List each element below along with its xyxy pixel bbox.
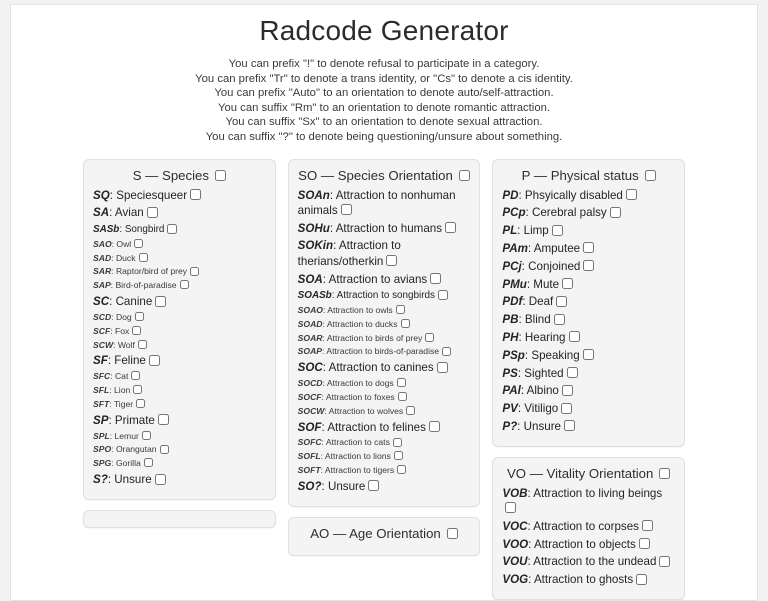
option-label: Unsure	[524, 420, 561, 433]
option-row: P?: Unsure	[502, 419, 675, 434]
option-checkbox-PDf[interactable]	[556, 296, 567, 307]
option-checkbox-PH[interactable]	[569, 331, 580, 342]
option-code: PCp	[502, 206, 525, 219]
option-row: SQ: Speciesqueer	[93, 188, 266, 203]
option-label: Attraction to ducks	[327, 319, 398, 329]
option-label: Attraction to objects	[534, 538, 636, 551]
option-checkbox-VOO[interactable]	[639, 538, 650, 549]
option-code: SOCW	[298, 406, 325, 416]
option-checkbox-SOA[interactable]	[430, 273, 441, 284]
option-row: SASb: Songbird	[93, 223, 266, 236]
option-checkbox-SPO[interactable]	[160, 445, 169, 454]
option-row: SOHu: Attraction to humans	[298, 221, 471, 236]
option-code: SOCD	[298, 378, 323, 388]
option-checkbox-VOU[interactable]	[659, 556, 670, 567]
option-label: Attraction to cats	[326, 437, 390, 447]
option-row: VOU: Attraction to the undead	[502, 554, 675, 569]
panel-title: VO — Vitality Orientation	[507, 466, 653, 481]
option-row: SOASb: Attraction to songbirds	[298, 289, 471, 302]
option-checkbox-SOAO[interactable]	[396, 305, 405, 314]
option-checkbox-SAD[interactable]	[139, 253, 148, 262]
option-code: PMu	[502, 278, 526, 291]
option-code: SFT	[93, 399, 109, 409]
option-code: VOB	[502, 487, 527, 500]
option-code: PDf	[502, 295, 522, 308]
option-checkbox-PD[interactable]	[626, 189, 637, 200]
option-code: PB	[502, 313, 518, 326]
option-label: Attraction to felines	[327, 421, 426, 434]
option-checkbox-SOFC[interactable]	[393, 438, 402, 447]
option-checkbox-SAP[interactable]	[180, 280, 189, 289]
option-row: VOB: Attraction to living beings	[502, 486, 675, 517]
instruction-line: You can prefix "Auto" to an orientation …	[11, 86, 757, 101]
option-row: SOAn: Attraction to nonhuman animals	[298, 188, 471, 219]
instruction-line: You can prefix "!" to denote refusal to …	[11, 57, 757, 72]
panel-vitality-orientation: VO — Vitality OrientationVOB: Attraction…	[492, 457, 685, 600]
option-label: Limp	[524, 224, 549, 237]
option-code: PSp	[502, 349, 525, 362]
panel-title: AO — Age Orientation	[310, 526, 440, 541]
option-list: PD: Phsyically disabledPCp: Cerebral pal…	[502, 188, 675, 435]
panel-header-species-orientation: SO — Species Orientation	[298, 167, 471, 188]
option-checkbox-SOCD[interactable]	[397, 378, 406, 387]
option-checkbox-VOB[interactable]	[505, 502, 516, 513]
panel-title: SO — Species Orientation	[298, 168, 453, 183]
option-code: SAO	[93, 239, 112, 249]
option-row: SAP: Bird-of-paradise	[93, 280, 266, 291]
option-label: Feline	[114, 354, 146, 367]
option-label: Attraction to birds of prey	[327, 333, 423, 343]
option-code: VOO	[502, 538, 528, 551]
option-code: PD	[502, 189, 518, 202]
option-checkbox-SO?[interactable]	[368, 480, 379, 491]
option-label: Bird-of-paradise	[115, 280, 176, 290]
option-checkbox-PL[interactable]	[552, 225, 563, 236]
option-label: Fox	[115, 326, 129, 336]
option-label: Raptor/bird of prey	[116, 266, 187, 276]
option-checkbox-SOCF[interactable]	[398, 392, 407, 401]
option-row: SOC: Attraction to canines	[298, 360, 471, 375]
option-checkbox-PV[interactable]	[561, 403, 572, 414]
panel-checkbox-age-orientation[interactable]	[447, 528, 458, 539]
category-column: S — SpeciesSQ: SpeciesqueerSA: AvianSASb…	[83, 159, 276, 528]
option-label: Attraction to avians	[329, 273, 428, 286]
option-label: Attraction to wolves	[329, 406, 404, 416]
option-label: Sighted	[524, 367, 563, 380]
option-checkbox-SOHu[interactable]	[445, 222, 456, 233]
option-label: Cat	[115, 371, 128, 381]
option-code: PV	[502, 402, 517, 415]
option-row: SP: Primate	[93, 413, 266, 428]
option-code: SA	[93, 206, 109, 219]
option-code: SFL	[93, 385, 109, 395]
option-checkbox-SOAP[interactable]	[442, 347, 451, 356]
option-code: SOAR	[298, 333, 323, 343]
panel-header-age-orientation: AO — Age Orientation	[298, 525, 471, 546]
option-list: SOAn: Attraction to nonhuman animalsSOHu…	[298, 188, 471, 495]
option-code: SOA	[298, 273, 323, 286]
option-row: PL: Limp	[502, 223, 675, 238]
option-row: SOCD: Attraction to dogs	[298, 378, 471, 389]
option-label: Gorilla	[116, 458, 141, 468]
option-row: SPG: Gorilla	[93, 458, 266, 469]
option-checkbox-SOF[interactable]	[429, 421, 440, 432]
panel-checkbox-vitality-orientation[interactable]	[659, 468, 670, 479]
option-row: SCW: Wolf	[93, 340, 266, 351]
instruction-line: You can prefix "Tr" to denote a trans id…	[11, 72, 757, 87]
option-checkbox-SASb[interactable]	[167, 224, 177, 234]
option-code: SCF	[93, 326, 110, 336]
option-label: Duck	[116, 253, 136, 263]
option-row: PSp: Speaking	[502, 348, 675, 363]
panel-checkbox-species-orientation[interactable]	[459, 170, 470, 181]
option-label: Attraction to lions	[325, 451, 391, 461]
option-label: Attraction to canines	[329, 361, 434, 374]
option-label: Albino	[527, 384, 559, 397]
option-label: Unsure	[328, 480, 365, 493]
option-row: SAR: Raptor/bird of prey	[93, 266, 266, 277]
option-checkbox-PAl[interactable]	[562, 385, 573, 396]
option-checkbox-SOFT[interactable]	[397, 465, 406, 474]
option-label: Attraction to corpses	[533, 520, 639, 533]
option-checkbox-PCj[interactable]	[583, 260, 594, 271]
option-code: PS	[502, 367, 517, 380]
option-row: SC: Canine	[93, 294, 266, 309]
option-row: PD: Phsyically disabled	[502, 188, 675, 203]
option-row: SOAO: Attraction to owls	[298, 305, 471, 316]
panel-species: S — SpeciesSQ: SpeciesqueerSA: AvianSASb…	[83, 159, 276, 500]
option-label: Tiger	[114, 399, 133, 409]
option-checkbox-SFC[interactable]	[131, 371, 140, 380]
option-label: Blind	[525, 313, 551, 326]
option-row: SFC: Cat	[93, 371, 266, 382]
option-checkbox-SOKin[interactable]	[386, 255, 397, 266]
option-checkbox-VOG[interactable]	[636, 574, 647, 585]
panel-species-partial	[83, 510, 276, 528]
option-label: Cerebral palsy	[532, 206, 607, 219]
option-code: SC	[93, 295, 109, 308]
option-code: P?	[502, 420, 517, 433]
option-checkbox-S?[interactable]	[155, 474, 166, 485]
category-column: P — Physical statusPD: Phsyically disabl…	[492, 159, 685, 600]
option-code: PCj	[502, 260, 521, 273]
option-row: PH: Hearing	[502, 330, 675, 345]
option-label: Attraction to owls	[327, 305, 392, 315]
option-code: SCW	[93, 340, 113, 350]
option-checkbox-SOASb[interactable]	[438, 290, 448, 300]
instruction-line: You can suffix "Sx" to an orientation to…	[11, 115, 757, 130]
option-row: PDf: Deaf	[502, 294, 675, 309]
option-checkbox-PB[interactable]	[554, 314, 565, 325]
option-row: SAO: Owl	[93, 239, 266, 250]
option-label: Avian	[115, 206, 144, 219]
option-code: PL	[502, 224, 517, 237]
option-code: SOCF	[298, 392, 322, 402]
panel-title: S — Species	[133, 168, 209, 183]
option-row: SOAR: Attraction to birds of prey	[298, 333, 471, 344]
option-checkbox-SOCW[interactable]	[406, 406, 415, 415]
option-label: Primate	[115, 414, 155, 427]
option-code: SOKin	[298, 239, 333, 252]
option-code: SOAD	[298, 319, 323, 329]
option-row: PMu: Mute	[502, 277, 675, 292]
option-label: Lemur	[115, 431, 139, 441]
option-code: SOFL	[298, 451, 321, 461]
option-checkbox-SAO[interactable]	[134, 239, 143, 248]
option-label: Mute	[533, 278, 559, 291]
option-checkbox-SPL[interactable]	[142, 431, 151, 440]
option-label: Canine	[116, 295, 153, 308]
option-code: SOAn	[298, 189, 330, 202]
option-checkbox-VOC[interactable]	[642, 520, 653, 531]
option-label: Attraction to living beings	[533, 487, 662, 500]
option-code: SOF	[298, 421, 322, 434]
option-label: Wolf	[118, 340, 135, 350]
panel-species-orientation: SO — Species OrientationSOAn: Attraction…	[288, 159, 481, 507]
option-label: Attraction to foxes	[326, 392, 395, 402]
option-checkbox-PSp[interactable]	[583, 349, 594, 360]
panel-header-species: S — Species	[93, 167, 266, 188]
option-row: PCp: Cerebral palsy	[502, 205, 675, 220]
option-checkbox-SFL[interactable]	[133, 385, 142, 394]
option-label: Songbird	[125, 224, 165, 235]
panel-title: P — Physical status	[522, 168, 639, 183]
option-checkbox-SFT[interactable]	[136, 399, 145, 408]
option-code: SOFT	[298, 465, 321, 475]
option-row: PS: Sighted	[502, 366, 675, 381]
option-code: SAR	[93, 266, 111, 276]
panel-physical-status: P — Physical statusPD: Phsyically disabl…	[492, 159, 685, 447]
option-code: PH	[502, 331, 518, 344]
option-code: SOC	[298, 361, 323, 374]
option-row: PAm: Amputee	[502, 241, 675, 256]
option-checkbox-SOAR[interactable]	[425, 333, 434, 342]
option-code: SPO	[93, 444, 111, 454]
option-row: SCF: Fox	[93, 326, 266, 337]
option-row: SF: Feline	[93, 353, 266, 368]
option-label: Attraction to dogs	[327, 378, 394, 388]
option-checkbox-PS[interactable]	[567, 367, 578, 378]
option-code: PAl	[502, 384, 520, 397]
option-checkbox-PCp[interactable]	[610, 207, 621, 218]
app-container: Radcode Generator You can prefix "!" to …	[10, 4, 758, 601]
option-checkbox-SOAD[interactable]	[401, 319, 410, 328]
option-code: SO?	[298, 480, 322, 493]
option-row: SFL: Lion	[93, 385, 266, 396]
option-row: PB: Blind	[502, 312, 675, 327]
option-code: SPG	[93, 458, 111, 468]
option-checkbox-SP[interactable]	[158, 414, 169, 425]
option-row: SOCF: Attraction to foxes	[298, 392, 471, 403]
option-code: SPL	[93, 431, 110, 441]
option-checkbox-SC[interactable]	[155, 296, 166, 307]
option-checkbox-SF[interactable]	[149, 355, 160, 366]
option-code: SQ	[93, 189, 110, 202]
option-code: SOAP	[298, 346, 322, 356]
option-label: Conjoined	[528, 260, 580, 273]
option-checkbox-SPG[interactable]	[144, 458, 153, 467]
option-row: SA: Avian	[93, 205, 266, 220]
option-row: SOFT: Attraction to tigers	[298, 465, 471, 476]
option-label: Attraction to songbirds	[337, 290, 435, 301]
option-code: SOAO	[298, 305, 323, 315]
option-label: Owl	[116, 239, 131, 249]
panel-header-physical-status: P — Physical status	[502, 167, 675, 188]
option-code: VOU	[502, 555, 527, 568]
option-row: PCj: Conjoined	[502, 259, 675, 274]
panel-header-vitality-orientation: VO — Vitality Orientation	[502, 465, 675, 486]
option-checkbox-SQ[interactable]	[190, 189, 201, 200]
option-row: SPO: Orangutan	[93, 444, 266, 455]
option-row: PAl: Albino	[502, 383, 675, 398]
option-checkbox-P?[interactable]	[564, 420, 575, 431]
option-code: SOFC	[298, 437, 322, 447]
option-checkbox-PMu[interactable]	[562, 278, 573, 289]
option-code: SFC	[93, 371, 110, 381]
option-row: SOAP: Attraction to birds-of-paradise	[298, 346, 471, 357]
option-row: SCD: Dog	[93, 312, 266, 323]
panel-checkbox-species[interactable]	[215, 170, 226, 181]
option-checkbox-SCD[interactable]	[135, 312, 144, 321]
option-label: Deaf	[529, 295, 554, 308]
option-code: SP	[93, 414, 108, 427]
option-row: SFT: Tiger	[93, 399, 266, 410]
option-label: Speaking	[531, 349, 579, 362]
instruction-line: You can suffix "?" to denote being quest…	[11, 130, 757, 145]
option-checkbox-SAR[interactable]	[190, 267, 199, 276]
option-code: PAm	[502, 242, 528, 255]
option-code: SCD	[93, 312, 111, 322]
option-code: VOG	[502, 573, 528, 586]
option-row: SOAD: Attraction to ducks	[298, 319, 471, 330]
panel-checkbox-physical-status[interactable]	[645, 170, 656, 181]
panel-age-orientation: AO — Age Orientation	[288, 517, 481, 556]
option-label: Phsyically disabled	[525, 189, 623, 202]
option-row: SOF: Attraction to felines	[298, 420, 471, 435]
category-columns: S — SpeciesSQ: SpeciesqueerSA: AvianSASb…	[11, 159, 757, 600]
option-row: VOO: Attraction to objects	[502, 537, 675, 552]
option-label: Orangutan	[116, 444, 157, 454]
option-row: SOFL: Attraction to lions	[298, 451, 471, 462]
option-checkbox-PAm[interactable]	[583, 242, 594, 253]
option-label: Attraction to humans	[336, 222, 442, 235]
option-label: Amputee	[534, 242, 580, 255]
option-row: VOG: Attraction to ghosts	[502, 572, 675, 587]
option-checkbox-SOFL[interactable]	[394, 451, 403, 460]
option-row: SOCW: Attraction to wolves	[298, 406, 471, 417]
page-title: Radcode Generator	[11, 15, 757, 47]
option-checkbox-SCF[interactable]	[132, 326, 141, 335]
option-row: PV: Vitiligo	[502, 401, 675, 416]
option-row: SAD: Duck	[93, 253, 266, 264]
category-column: SO — Species OrientationSOAn: Attraction…	[288, 159, 481, 556]
option-list: VOB: Attraction to living beingsVOC: Att…	[502, 486, 675, 588]
option-row: VOC: Attraction to corpses	[502, 519, 675, 534]
option-label: Speciesqueer	[116, 189, 187, 202]
option-list: SQ: SpeciesqueerSA: AvianSASb: SongbirdS…	[93, 188, 266, 488]
option-label: Attraction to tigers	[325, 465, 394, 475]
option-code: SASb	[93, 224, 119, 235]
option-label: Attraction to the undead	[533, 555, 656, 568]
option-code: SAD	[93, 253, 111, 263]
option-label: Vitiligo	[524, 402, 558, 415]
option-code: SOASb	[298, 290, 332, 301]
option-label: Hearing	[525, 331, 566, 344]
option-label: Lion	[114, 385, 130, 395]
option-checkbox-SA[interactable]	[147, 207, 158, 218]
option-row: SOA: Attraction to avians	[298, 272, 471, 287]
option-checkbox-SOC[interactable]	[437, 362, 448, 373]
option-code: SF	[93, 354, 108, 367]
option-label: Attraction to birds-of-paradise	[326, 346, 439, 356]
option-code: VOC	[502, 520, 527, 533]
option-row: SO?: Unsure	[298, 479, 471, 494]
option-code: SAP	[93, 280, 111, 290]
option-code: SOHu	[298, 222, 330, 235]
option-checkbox-SCW[interactable]	[138, 340, 147, 349]
instruction-line: You can suffix "Rm" to an orientation to…	[11, 101, 757, 116]
option-row: SPL: Lemur	[93, 431, 266, 442]
option-checkbox-SOAn[interactable]	[341, 204, 352, 215]
option-row: SOFC: Attraction to cats	[298, 437, 471, 448]
option-row: SOKin: Attraction to therians/otherkin	[298, 238, 471, 269]
option-label: Attraction to ghosts	[534, 573, 633, 586]
instructions-block: You can prefix "!" to denote refusal to …	[11, 57, 757, 145]
option-label: Dog	[116, 312, 132, 322]
